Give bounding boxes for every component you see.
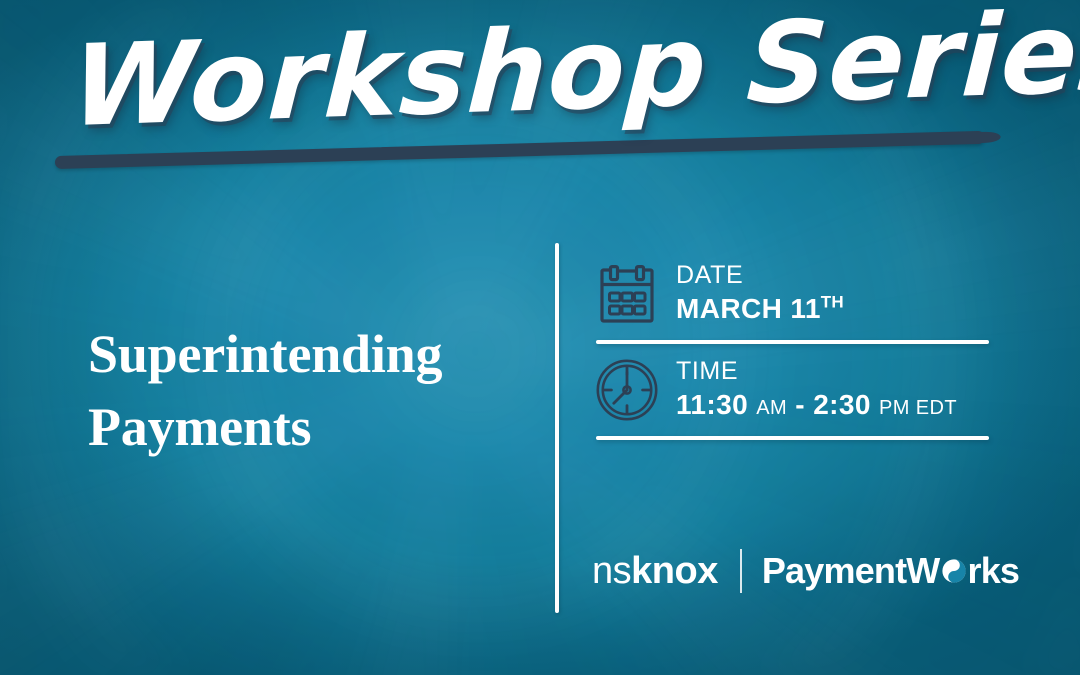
- event-info-panel: DATE MARCH 11TH: [596, 248, 990, 440]
- date-row: DATE MARCH 11TH: [596, 248, 990, 340]
- time-text-block: TIME 11:30 AM - 2:30 PM EDT: [670, 357, 990, 423]
- time-end-meridiem: PM EDT: [879, 397, 957, 419]
- time-row: TIME 11:30 AM - 2:30 PM EDT: [596, 344, 990, 436]
- date-label: DATE: [676, 261, 990, 291]
- vertical-divider: [555, 243, 559, 613]
- paymentworks-swirl-icon: [941, 558, 967, 584]
- nsknox-logo: nsknox: [592, 552, 718, 590]
- script-headline: Workshop Series: [68, 0, 1080, 152]
- date-ordinal-suffix: TH: [821, 292, 844, 311]
- page-title: Superintending Payments: [88, 318, 538, 465]
- paymentworks-logo: PaymentW rks: [762, 553, 1019, 589]
- clock-icon: [596, 359, 670, 421]
- page-title-line-1: Superintending: [88, 318, 538, 391]
- time-label: TIME: [676, 357, 990, 387]
- date-month-day: MARCH 11: [676, 293, 821, 324]
- time-end: 2:30: [813, 389, 871, 420]
- paymentworks-logo-suffix: rks: [968, 553, 1020, 589]
- info-divider-2: [596, 436, 989, 440]
- paymentworks-logo-prefix: PaymentW: [762, 553, 940, 589]
- time-range-separator: -: [795, 389, 805, 420]
- logo-lockup: nsknox PaymentW rks: [592, 545, 1019, 597]
- nsknox-logo-light-part: ns: [592, 550, 631, 592]
- page-title-line-2: Payments: [88, 391, 538, 464]
- date-text-block: DATE MARCH 11TH: [670, 261, 990, 327]
- date-value: MARCH 11TH: [676, 291, 990, 327]
- workshop-series-poster: Workshop Series Superintending Payments: [0, 0, 1080, 675]
- calendar-icon: [596, 265, 670, 323]
- nsknox-logo-bold-part: knox: [631, 550, 718, 592]
- script-headline-group: Workshop Series: [0, 0, 1080, 190]
- time-value: 11:30 AM - 2:30 PM EDT: [676, 387, 990, 423]
- time-start-meridiem: AM: [756, 397, 787, 419]
- time-start: 11:30: [676, 389, 748, 420]
- logo-separator: [740, 549, 742, 593]
